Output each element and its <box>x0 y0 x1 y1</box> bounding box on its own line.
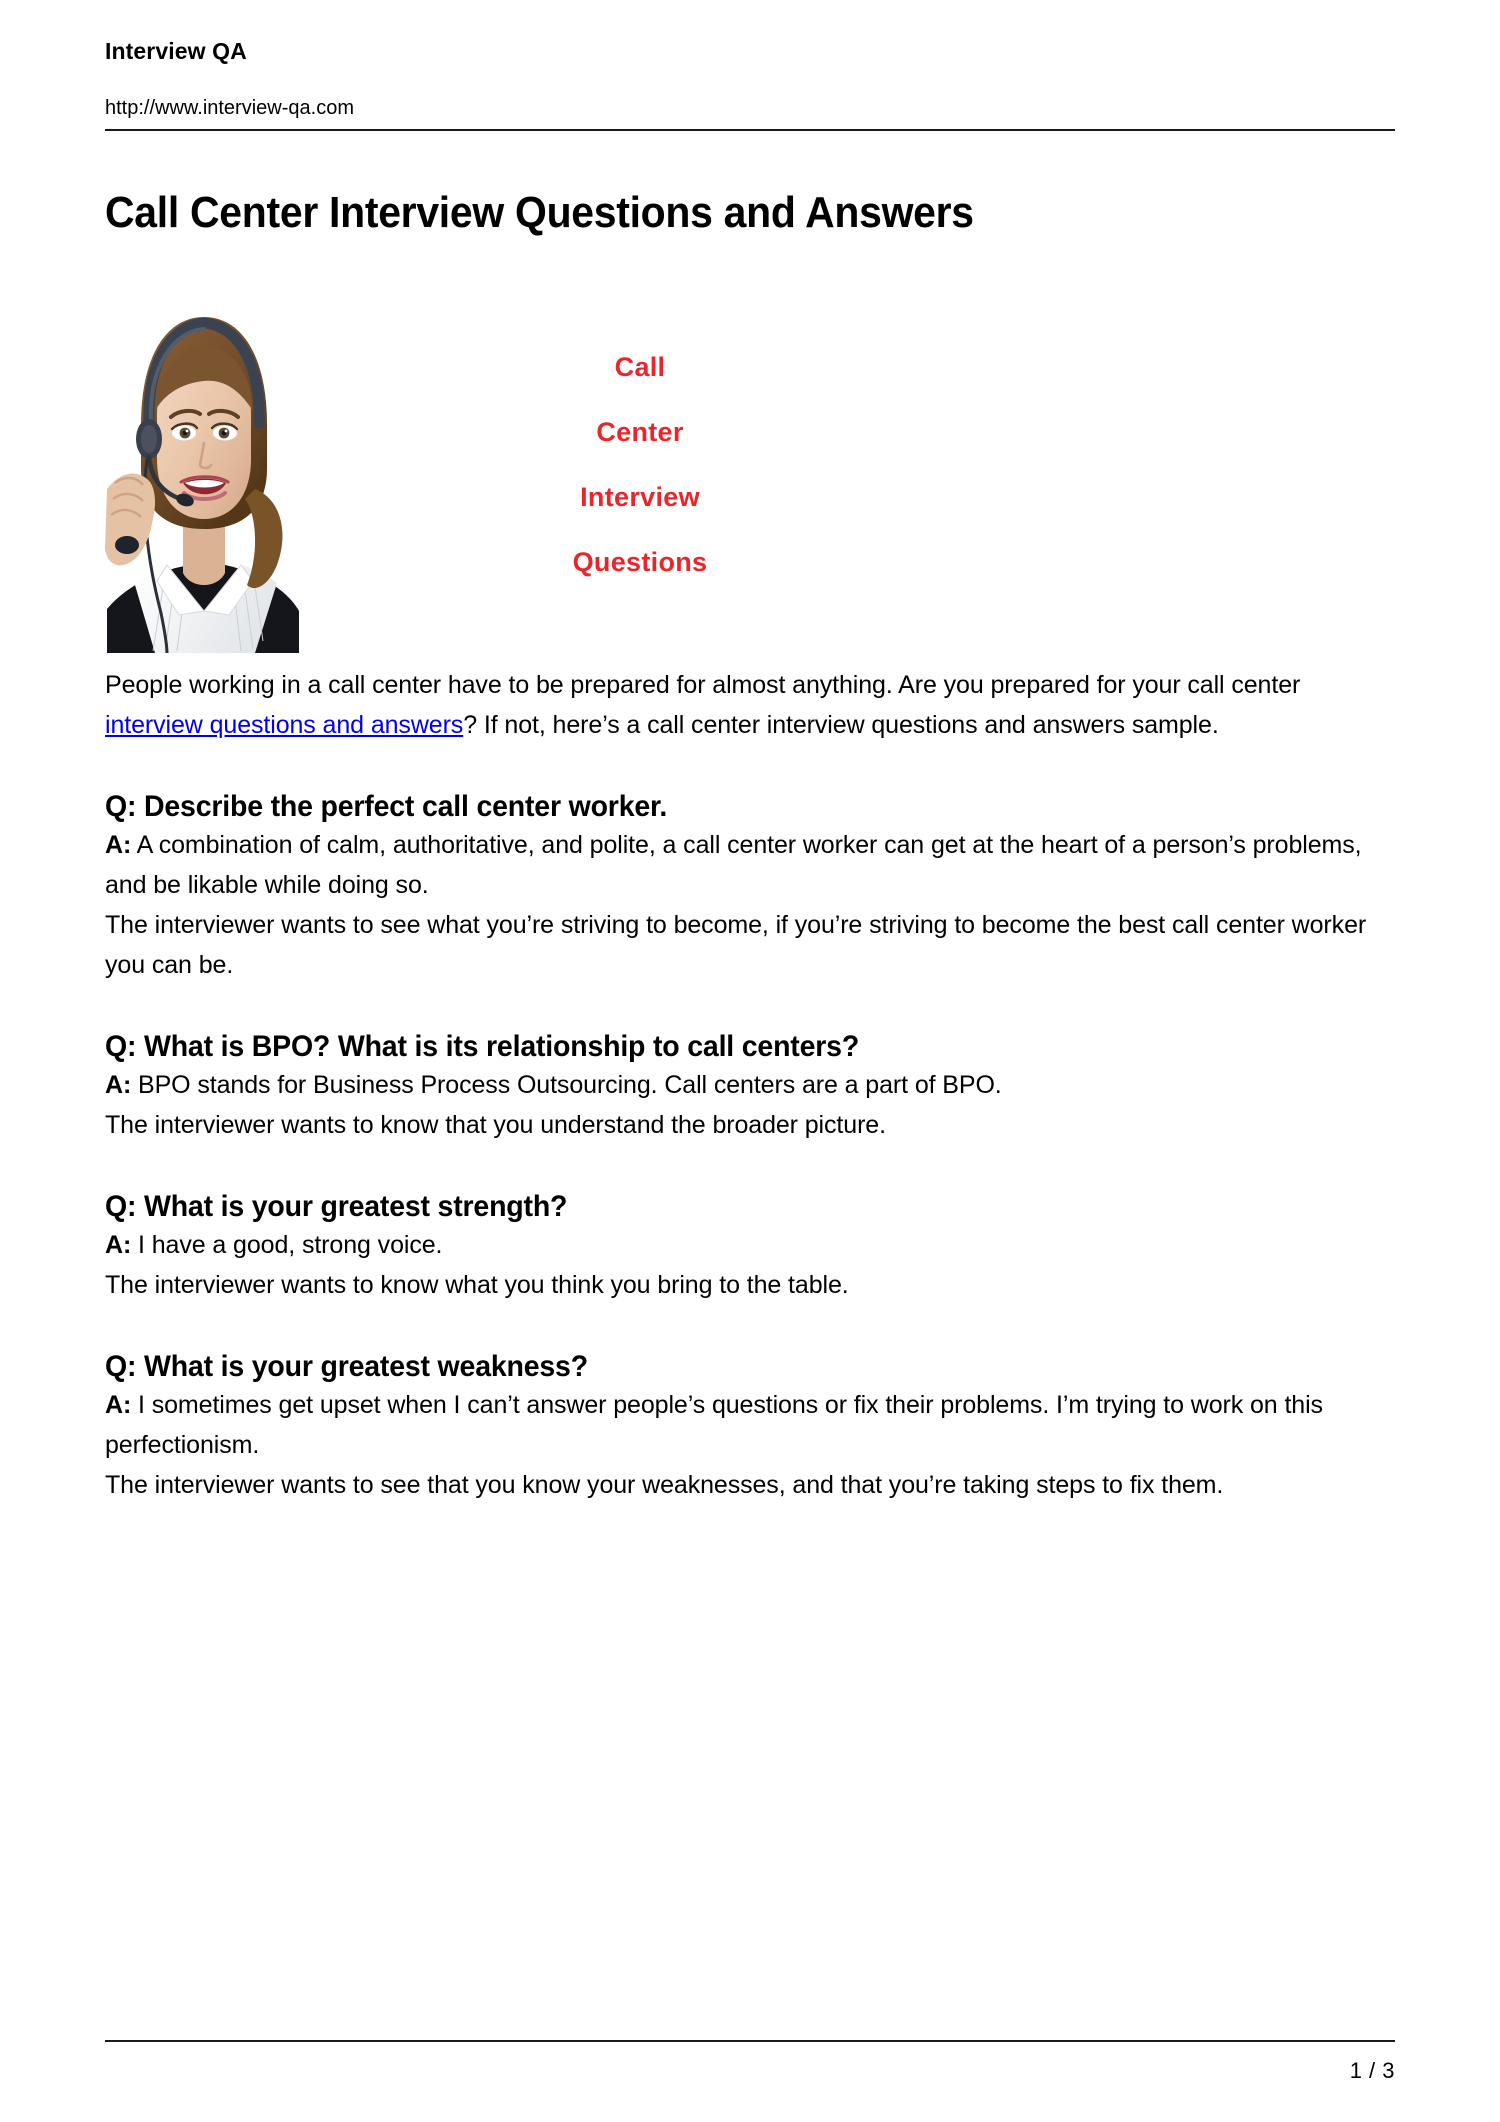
note-paragraph-4: The interviewer wants to see that you kn… <box>105 1465 1395 1505</box>
hero-figure: Call Center Interview Questions <box>105 293 1395 665</box>
page-title: Call Center Interview Questions and Answ… <box>105 188 1305 239</box>
site-url: http://www.interview-qa.com <box>105 96 1395 120</box>
page-number: 1 / 3 <box>105 2058 1395 2084</box>
caption-line-1: Call <box>525 335 755 400</box>
document-content: Interview QA http://www.interview-qa.com… <box>105 0 1395 1505</box>
answer-paragraph-2: A: BPO stands for Business Process Outso… <box>105 1065 1395 1105</box>
answer-label-1: A: <box>105 831 131 859</box>
answer-label-3: A: <box>105 1231 131 1259</box>
intro-text-part1: People working in a call center have to … <box>105 671 1300 699</box>
document-page: Interview QA http://www.interview-qa.com… <box>0 0 1500 2122</box>
footer-divider <box>105 2040 1395 2042</box>
answer-paragraph-3: A: I have a good, strong voice. <box>105 1225 1395 1265</box>
answer-text-1: A combination of calm, authoritative, an… <box>105 831 1361 899</box>
site-name: Interview QA <box>105 38 1395 66</box>
question-heading-3: Q: What is your greatest strength? <box>105 1189 1331 1225</box>
note-paragraph-1: The interviewer wants to see what you’re… <box>105 905 1395 985</box>
document-header: Interview QA http://www.interview-qa.com <box>105 0 1395 120</box>
header-divider <box>105 129 1395 131</box>
intro-paragraph: People working in a call center have to … <box>105 665 1395 745</box>
document-footer: 1 / 3 <box>105 2040 1395 2084</box>
caption-line-4: Questions <box>525 530 755 595</box>
caption-line-2: Center <box>525 400 755 465</box>
question-heading-4: Q: What is your greatest weakness? <box>105 1349 1331 1385</box>
question-heading-1: Q: Describe the perfect call center work… <box>105 789 1331 825</box>
answer-label-4: A: <box>105 1391 131 1419</box>
answer-paragraph-4: A: I sometimes get upset when I can’t an… <box>105 1385 1395 1465</box>
intro-text-part2: ? If not, here’s a call center interview… <box>463 711 1218 739</box>
answer-paragraph-1: A: A combination of calm, authoritative,… <box>105 825 1395 905</box>
interview-questions-link[interactable]: interview questions and answers <box>105 711 463 739</box>
answer-text-4: I sometimes get upset when I can’t answe… <box>105 1391 1323 1459</box>
answer-text-2: BPO stands for Business Process Outsourc… <box>131 1071 1001 1099</box>
question-heading-2: Q: What is BPO? What is its relationship… <box>105 1029 1331 1065</box>
caption-line-3: Interview <box>525 465 755 530</box>
figure-caption: Call Center Interview Questions <box>525 335 755 595</box>
note-paragraph-3: The interviewer wants to know what you t… <box>105 1265 1395 1305</box>
answer-label-2: A: <box>105 1071 131 1099</box>
answer-text-3: I have a good, strong voice. <box>131 1231 442 1259</box>
note-paragraph-2: The interviewer wants to know that you u… <box>105 1105 1395 1145</box>
call-center-agent-photo <box>105 293 300 653</box>
